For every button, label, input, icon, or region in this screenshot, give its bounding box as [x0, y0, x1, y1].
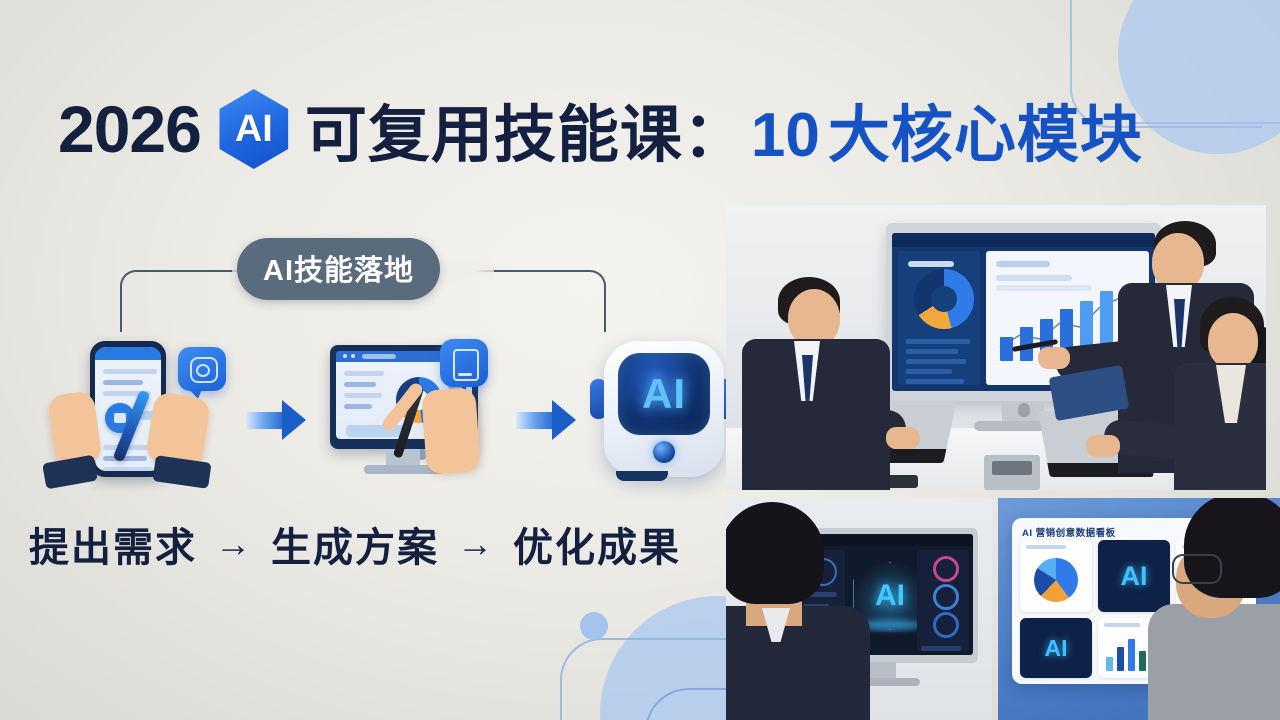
title-highlight-text: 大核心模块 [828, 101, 1143, 170]
flow-illustrations: AI [0, 330, 710, 510]
flow-caption-3: 优化成果 [513, 515, 681, 573]
hand-pointing [421, 387, 481, 475]
chat-bubble-icon [178, 347, 226, 391]
person-back-view [726, 502, 846, 720]
decorative-dot-bottom [580, 612, 608, 640]
flow-caption-1: 提出需求 [29, 515, 197, 573]
decorative-corner-line-bottom [560, 638, 738, 720]
sleeve-cuff-left [42, 454, 98, 489]
phone-in-hands-with-stylus-icon [42, 333, 242, 508]
ai-card-label: AI [1121, 561, 1148, 592]
person-seated-right [1178, 297, 1266, 490]
ai-badge-label: AI [235, 108, 273, 151]
wall-dashboard-title: AI 营销创意数据看板 [1022, 525, 1116, 539]
dashboard-donut-chart [914, 269, 974, 329]
blue-gradient-arrow-icon-2 [516, 400, 578, 440]
ai-card-bottom: AI [1020, 618, 1092, 678]
ring-chart-1 [933, 556, 959, 582]
ai-robot-icon: AI [582, 333, 742, 508]
title-colon: ： [683, 84, 745, 174]
robot-screen-label: AI [642, 370, 686, 418]
eyeglasses-icon [1172, 554, 1222, 584]
apple-logo-icon [1018, 403, 1030, 417]
flow-separator-1: → [215, 523, 253, 565]
robot-foot [616, 471, 668, 481]
business-meeting-with-dashboard-photo [726, 205, 1266, 490]
ring-chart-2 [933, 584, 959, 610]
desktop-dashboard-with-hand-icon [312, 333, 512, 508]
flow-separator-2: → [457, 523, 495, 565]
sleeve-cuff-right [152, 455, 211, 489]
person-seated-left [736, 277, 876, 490]
person-viewing-wall [1166, 498, 1280, 720]
ai-card-label-2: AI [1045, 635, 1068, 662]
pie-chart-card [1020, 540, 1092, 612]
title-year: 2026 [58, 91, 201, 167]
photo-collage: AI [726, 205, 1280, 720]
blue-gradient-arrow-icon [246, 400, 308, 440]
poster-canvas: 2026 AI 可复用技能课 ： 10大核心模块 AI技能落地 [0, 0, 1280, 720]
flow-caption-2: 生成方案 [271, 515, 439, 573]
flow-pill-badge: AI技能落地 [237, 238, 440, 300]
ring-chart-3 [933, 612, 959, 638]
whiteboard-ai-dashboard-photo: AI 营销创意数据看板 AI AI [998, 498, 1280, 720]
title-highlight-number: 10 [751, 101, 820, 170]
flow-caption-row: 提出需求 → 生成方案 → 优化成果 [0, 514, 710, 574]
pie-chart-icon [1034, 558, 1078, 602]
robot-lens-icon [653, 441, 675, 463]
ai-card-top: AI [1098, 540, 1170, 612]
man-viewing-ai-dashboard-photo: AI [726, 498, 992, 720]
desk-device [984, 455, 1040, 490]
robot-screen: AI [618, 353, 710, 435]
title-highlight: 10大核心模块 [751, 84, 1143, 174]
device-app-tile-icon [440, 339, 488, 387]
ai-hexagon-icon: AI [215, 89, 293, 169]
title-middle: 可复用技能课 [305, 84, 683, 174]
robot-body: AI [604, 341, 724, 477]
page-title: 2026 AI 可复用技能课 ： 10大核心模块 [58, 86, 1238, 172]
hand-right [145, 391, 211, 469]
